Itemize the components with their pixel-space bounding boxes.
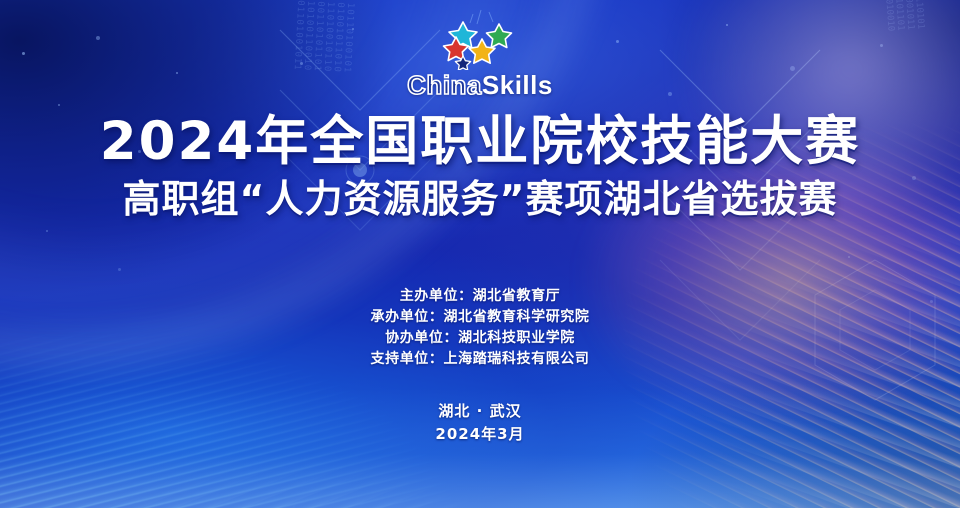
- poster-background: 10110100101 01001011010 11010010110 0011…: [0, 0, 960, 508]
- title-block: 2024年全国职业院校技能大赛 高职组“人力资源服务”赛项湖北省选拔赛: [0, 112, 960, 223]
- stars-cluster-icon: [437, 8, 523, 70]
- page-subtitle: 高职组“人力资源服务”赛项湖北省选拔赛: [0, 177, 960, 223]
- star-green-icon: [487, 24, 512, 48]
- brand-china-text: China: [407, 70, 482, 100]
- organizer-line-organizer: 承办单位：湖北省教育科学研究院: [371, 307, 590, 328]
- organizer-line-supporter: 支持单位：上海踏瑞科技有限公司: [371, 349, 590, 370]
- brand-wordmark: ChinaSkills: [407, 72, 553, 98]
- brand-skills-text: Skills: [482, 70, 553, 100]
- venue-block: 湖北 · 武汉 2024年3月: [0, 400, 960, 446]
- star-yellow-icon: [469, 39, 495, 63]
- organizer-line-host: 主办单位：湖北省教育厅: [400, 286, 561, 307]
- poster-content: ChinaSkills 2024年全国职业院校技能大赛 高职组“人力资源服务”赛…: [0, 0, 960, 508]
- venue-location: 湖北 · 武汉: [0, 400, 960, 423]
- page-title: 2024年全国职业院校技能大赛: [0, 112, 960, 171]
- organizer-line-coorganizer: 协办单位：湖北科技职业学院: [385, 328, 575, 349]
- chinaskills-logo: ChinaSkills: [0, 8, 960, 98]
- logo-stars: [437, 8, 523, 70]
- venue-date: 2024年3月: [0, 423, 960, 446]
- organizer-list: 主办单位：湖北省教育厅 承办单位：湖北省教育科学研究院 协办单位：湖北科技职业学…: [0, 286, 960, 370]
